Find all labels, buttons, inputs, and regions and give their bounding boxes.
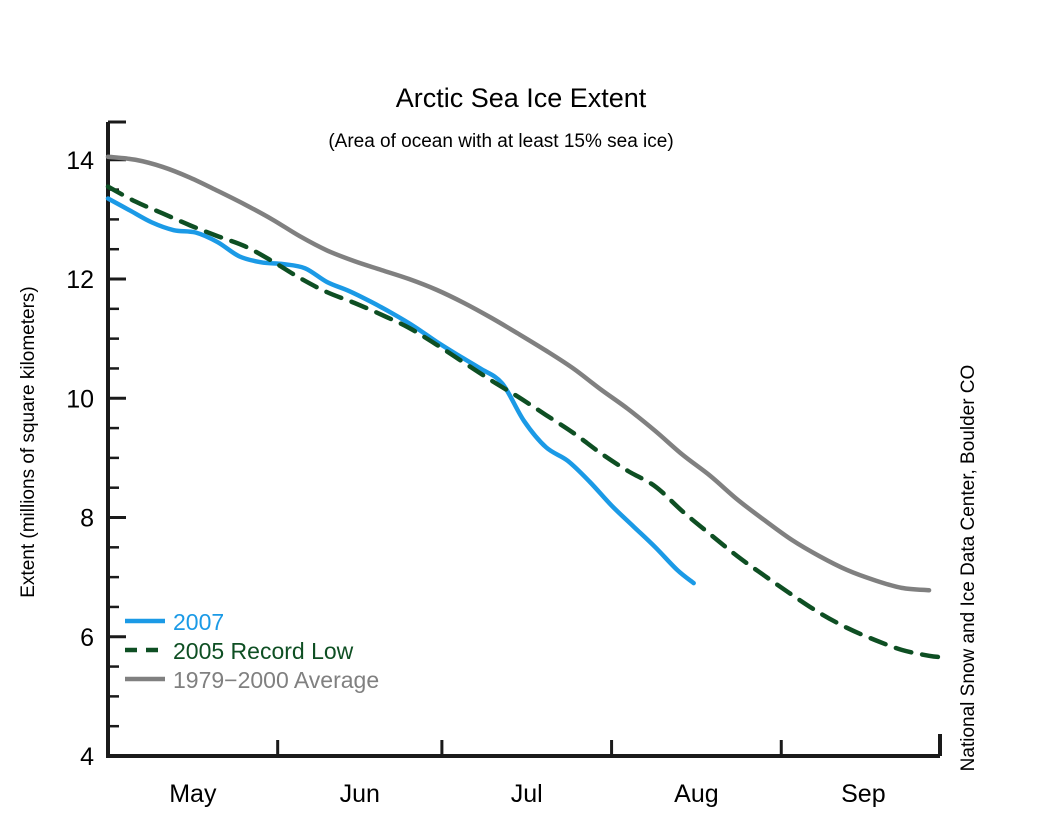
x-axis-tick-label: May bbox=[169, 780, 217, 808]
legend-label: 1979−2000 Average bbox=[173, 667, 379, 693]
y-axis-tick-label: 10 bbox=[66, 385, 94, 413]
chart-title: Arctic Sea Ice Extent bbox=[396, 83, 647, 113]
x-axis-tick-label: Aug bbox=[674, 780, 718, 808]
y-axis-tick-label: 8 bbox=[80, 505, 94, 533]
x-axis-tick-label: Sep bbox=[841, 780, 885, 808]
legend-label: 2007 bbox=[173, 609, 224, 635]
y-axis-tick-label: 6 bbox=[80, 624, 94, 652]
chart-figure: Arctic Sea Ice Extent (Area of ocean wit… bbox=[0, 0, 1050, 840]
y-axis-tick-label: 14 bbox=[66, 147, 94, 175]
credit-label: National Snow and Ice Data Center, Bould… bbox=[958, 365, 979, 772]
chart-subtitle: (Area of ocean with at least 15% sea ice… bbox=[328, 131, 673, 152]
y-axis-tick-label: 12 bbox=[66, 266, 94, 294]
x-axis-tick-label: Jul bbox=[511, 780, 543, 808]
legend-label: 2005 Record Low bbox=[173, 638, 354, 664]
y-axis-tick-label: 4 bbox=[80, 743, 94, 771]
arctic-sea-ice-chart: Arctic Sea Ice Extent (Area of ocean wit… bbox=[0, 0, 1050, 840]
x-axis-tick-label: Jun bbox=[340, 780, 380, 808]
y-axis-label: Extent (millions of square kilometers) bbox=[18, 286, 39, 598]
